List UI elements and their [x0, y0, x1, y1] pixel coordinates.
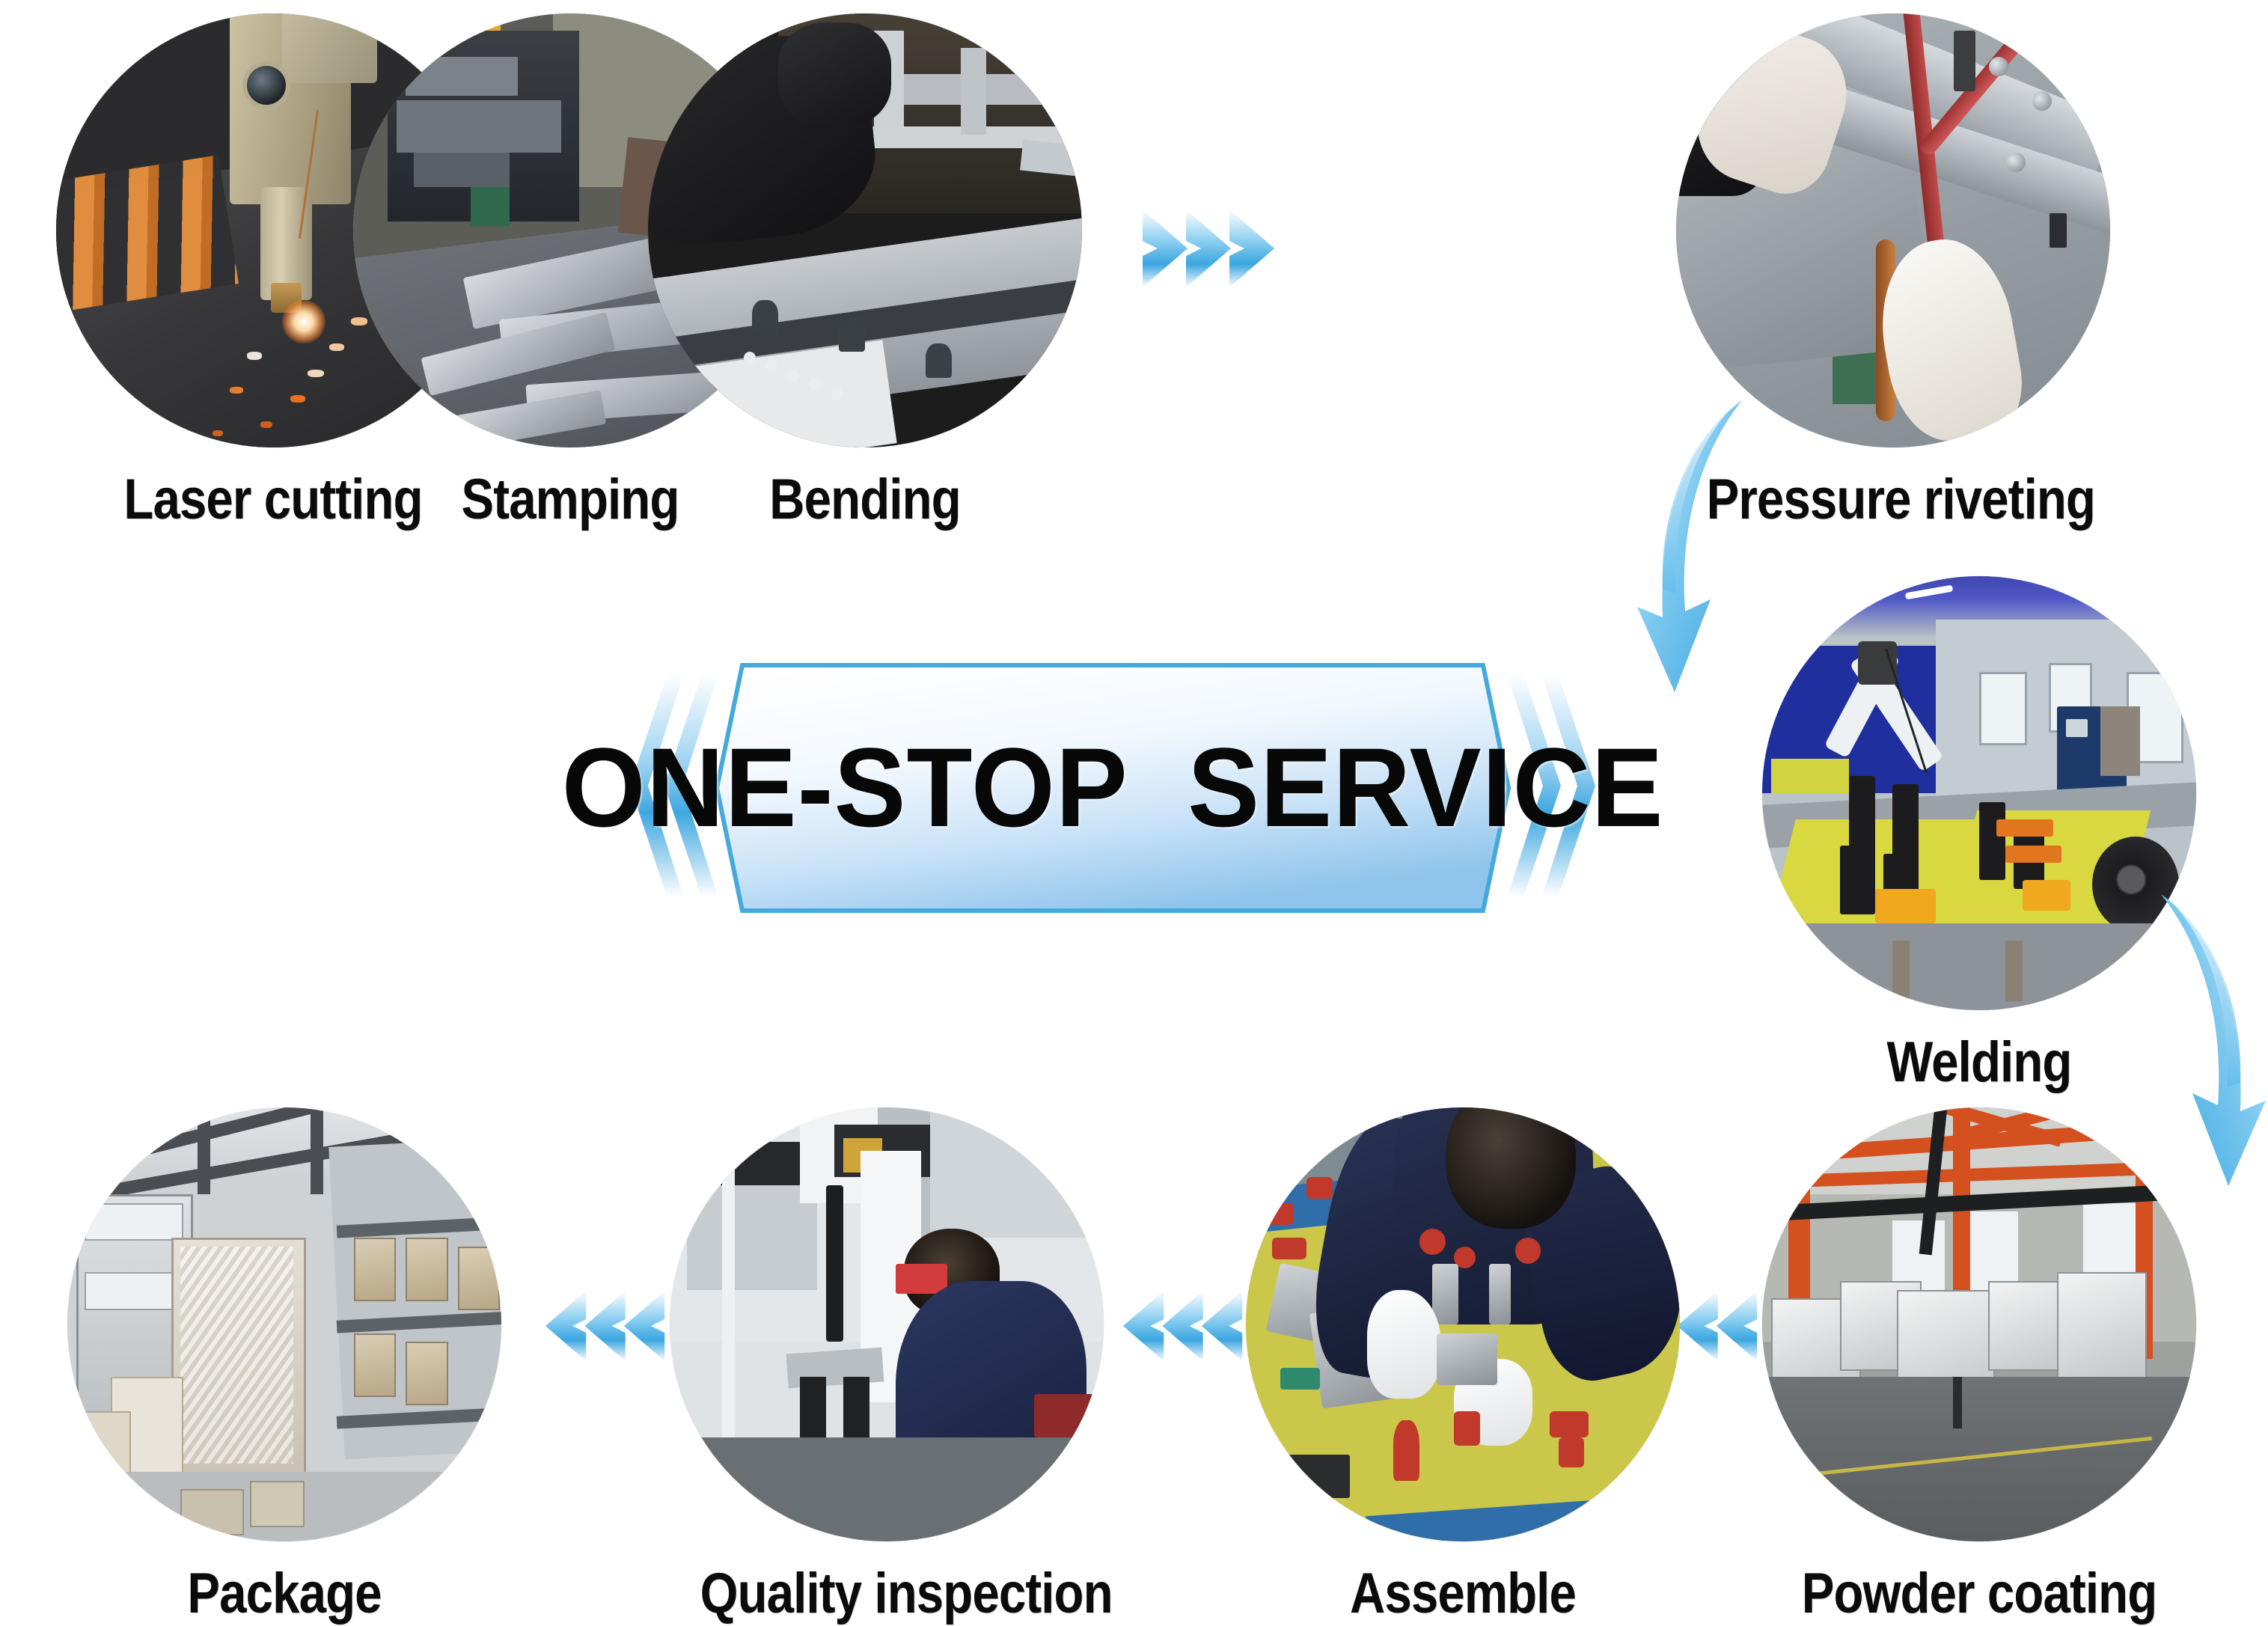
- connector-assemble-to-quality-inspection: [1101, 1281, 1244, 1371]
- quality-inspection-photo: [670, 1107, 1104, 1541]
- banner-plate: ONE-STOP SERVICE: [712, 661, 1513, 915]
- connector-quality-inspection-to-package: [524, 1281, 666, 1371]
- banner-title-text: ONE-STOP SERVICE: [562, 723, 1664, 852]
- connector-bending-to-pressure-riveting: [1141, 204, 1298, 293]
- step-label-package: Package: [98, 1561, 471, 1626]
- process-step-powder-coating[interactable]: Powder coating: [1762, 1107, 2196, 1626]
- step-label-welding: Welding: [1793, 1030, 2166, 1095]
- step-label-powder-coating: Powder coating: [1793, 1561, 2166, 1626]
- process-step-quality-inspection[interactable]: Quality inspection: [670, 1107, 1104, 1626]
- pressure-riveting-photo: [1676, 13, 2110, 447]
- process-step-assemble[interactable]: Assemble: [1246, 1107, 1680, 1626]
- package-photo: [67, 1107, 501, 1541]
- connector-pressure-riveting-to-welding: [1630, 393, 1779, 711]
- process-step-package[interactable]: Package: [67, 1107, 501, 1626]
- step-label-assemble: Assemble: [1277, 1561, 1650, 1626]
- powder-coating-photo: [1762, 1107, 2196, 1541]
- step-label-quality-inspection: Quality inspection: [700, 1561, 1074, 1626]
- center-banner: ONE-STOP SERVICE: [614, 658, 1612, 917]
- bending-photo: [648, 13, 1082, 447]
- assemble-photo: [1246, 1107, 1680, 1541]
- step-label-bending: Bending: [679, 467, 1052, 532]
- process-step-bending[interactable]: Bending: [648, 13, 1082, 532]
